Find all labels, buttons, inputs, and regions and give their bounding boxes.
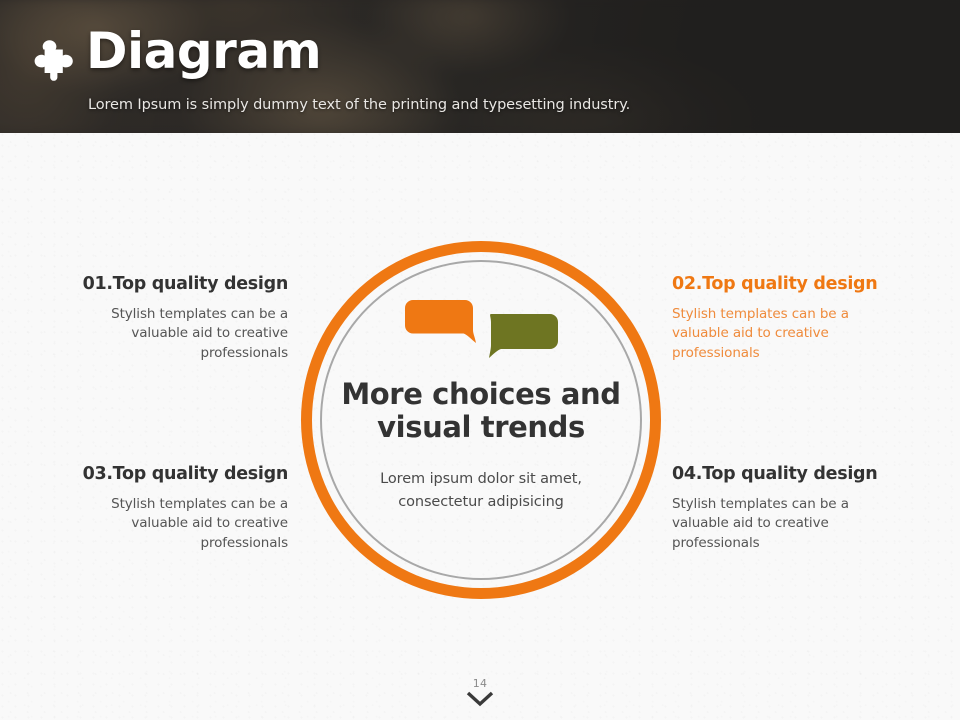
diagram-item-04[interactable]: 04.Top quality design Stylish templates … [672,464,894,553]
item-01-body: Stylish templates can be a valuable aid … [66,305,288,363]
diagram-item-03[interactable]: 03.Top quality design Stylish templates … [66,464,288,553]
item-04-body: Stylish templates can be a valuable aid … [672,495,894,553]
center-title: More choices and visual trends [329,378,633,444]
page-number: 14 [0,677,960,690]
speech-bubbles-icon-group [405,300,565,358]
item-02-body: Stylish templates can be a valuable aid … [672,305,894,363]
center-circle-diagram: More choices and visual trends Lorem ips… [301,241,661,599]
item-03-title: 03.Top quality design [66,464,288,484]
item-01-title: 01.Top quality design [66,274,288,294]
item-03-body: Stylish templates can be a valuable aid … [66,495,288,553]
item-04-title: 04.Top quality design [672,464,894,484]
chevron-down-icon[interactable] [466,690,494,708]
speech-bubble-olive [489,314,558,358]
puzzle-piece-icon [30,38,80,82]
page-title: Diagram [86,26,321,76]
speech-bubble-orange [405,300,476,343]
slide-canvas: Diagram Lorem Ipsum is simply dummy text… [0,0,960,720]
center-description: Lorem ipsum dolor sit amet, consectetur … [341,468,621,515]
item-02-title: 02.Top quality design [672,274,894,294]
diagram-item-02[interactable]: 02.Top quality design Stylish templates … [672,274,894,363]
slide-header: Diagram Lorem Ipsum is simply dummy text… [0,0,960,133]
diagram-item-01[interactable]: 01.Top quality design Stylish templates … [66,274,288,363]
page-subtitle: Lorem Ipsum is simply dummy text of the … [88,97,630,113]
